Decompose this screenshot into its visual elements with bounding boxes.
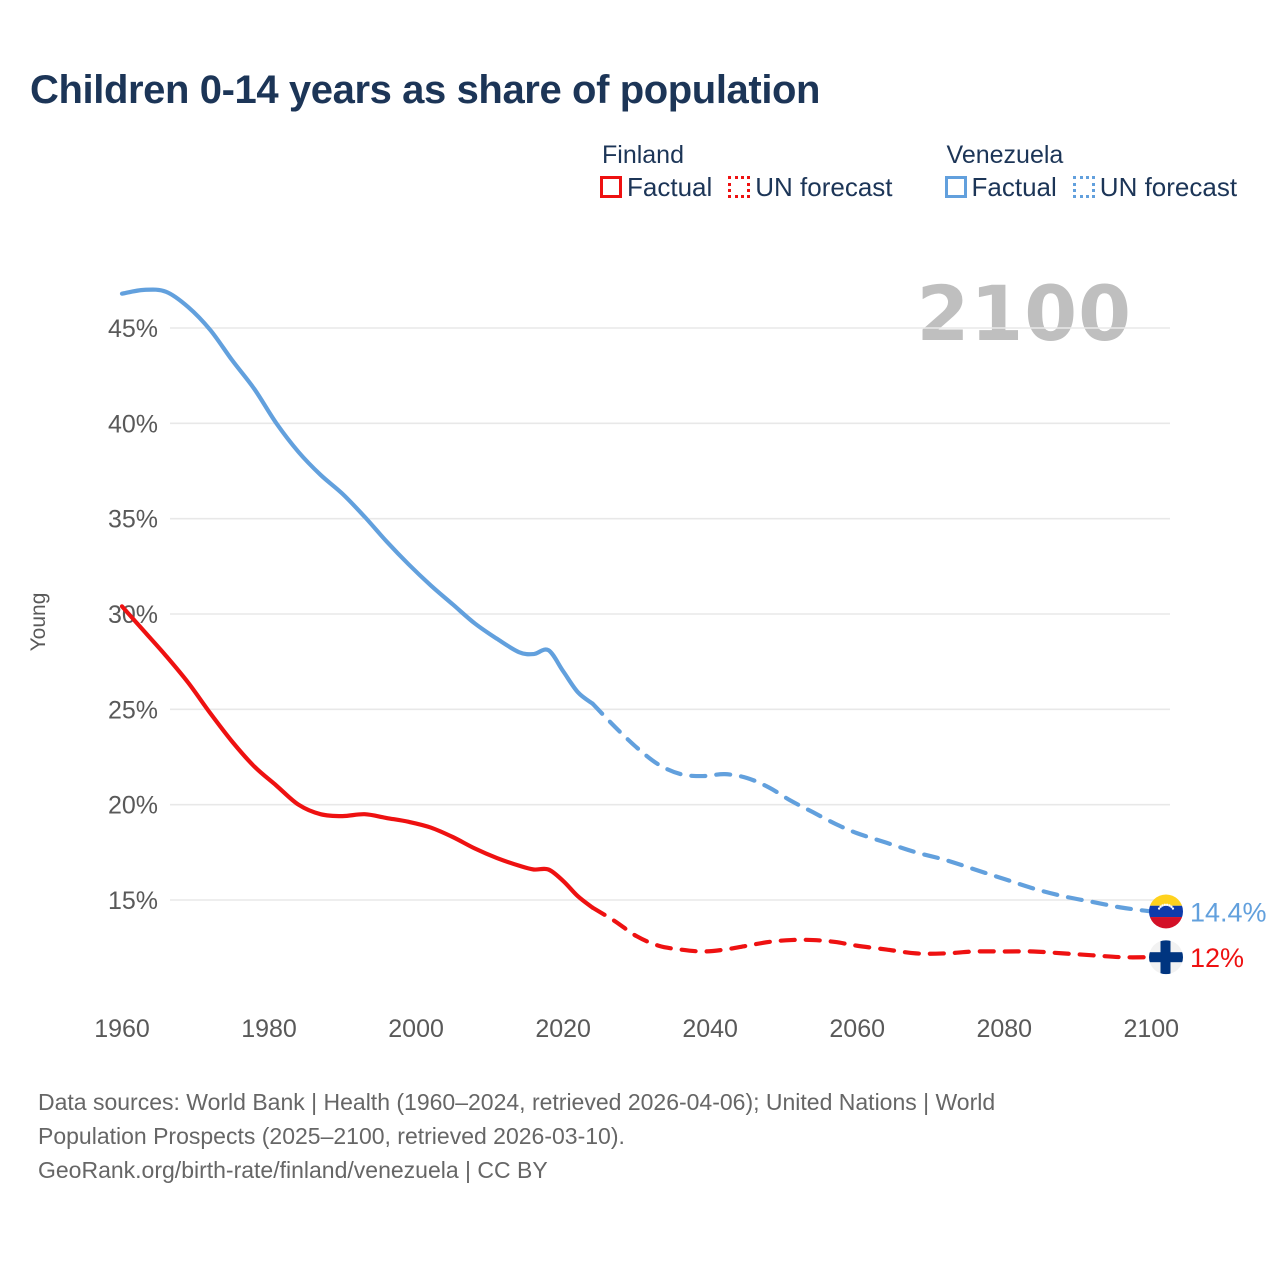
chart-container: Children 0-14 years as share of populati…: [0, 0, 1280, 1280]
data-series: [122, 290, 1151, 958]
y-axis-tick: 15%: [108, 887, 158, 915]
footer-line-3: GeoRank.org/birth-rate/finland/venezuela…: [38, 1153, 1218, 1187]
y-axis-tick: 35%: [108, 506, 158, 534]
y-axis-tick: 20%: [108, 792, 158, 820]
y-axis-tick: 30%: [108, 601, 158, 629]
footer-line-1: Data sources: World Bank | Health (1960–…: [38, 1085, 1218, 1119]
x-axis-tick: 2100: [1123, 1015, 1179, 1043]
x-axis-tick: 1980: [241, 1015, 297, 1043]
x-axis-tick: 2000: [388, 1015, 444, 1043]
y-axis-tick: 40%: [108, 410, 158, 438]
finland-flag-icon: [1149, 940, 1183, 974]
y-axis-tick: 25%: [108, 696, 158, 724]
footer-line-2: Population Prospects (2025–2100, retriev…: [38, 1119, 1218, 1153]
footer-sources: Data sources: World Bank | Health (1960–…: [38, 1085, 1218, 1187]
venezuela-forecast-line: [593, 704, 1152, 912]
y-axis-tick: 45%: [108, 315, 158, 343]
x-axis-tick: 2020: [535, 1015, 591, 1043]
x-axis-tick: 1960: [94, 1015, 150, 1043]
finland-forecast-line: [593, 908, 1152, 958]
y-axis-label: Young: [27, 593, 50, 652]
x-axis-tick: 2040: [682, 1015, 738, 1043]
venezuela-end-value: 14.4%: [1190, 897, 1267, 927]
x-axis-tick: 2060: [829, 1015, 885, 1043]
plot-area: 15%20%25%30%35%40%45% 196019802000202020…: [0, 0, 1280, 1060]
series-end-markers: 14.4%12%: [1149, 894, 1267, 974]
venezuela-flag-icon: [1149, 894, 1183, 928]
venezuela-factual-line: [122, 290, 593, 704]
x-axis-tick: 2080: [976, 1015, 1032, 1043]
finland-end-value: 12%: [1190, 943, 1244, 973]
y-axis-tick-labels: 15%20%25%30%35%40%45%: [108, 315, 158, 915]
x-axis-tick-labels: 19601980200020202040206020802100: [94, 1015, 1179, 1043]
